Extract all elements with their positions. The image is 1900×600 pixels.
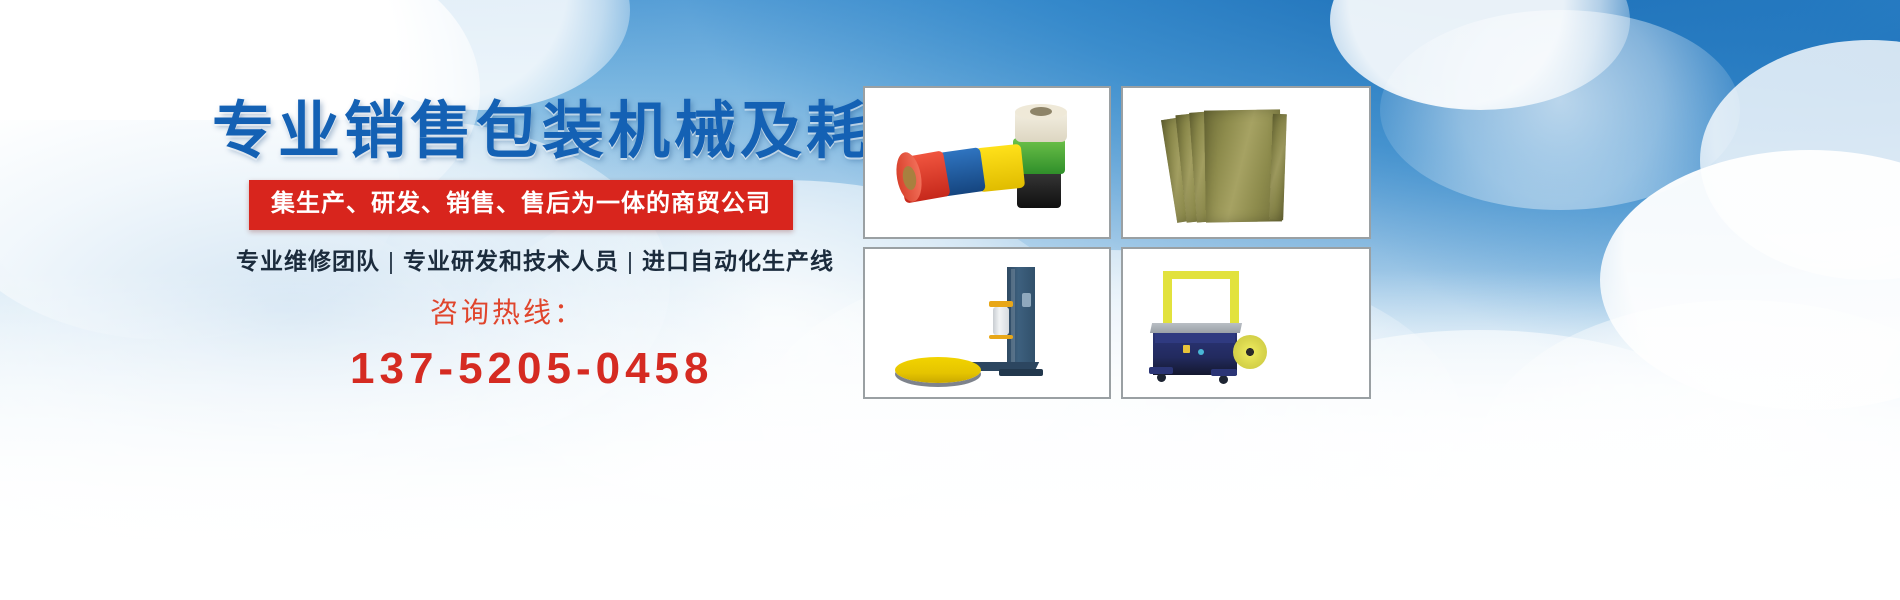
tagline-red-banner: 集生产、研发、销售、售后为一体的商贸公司 (249, 180, 793, 230)
feature-list: 专业维修团队|专业研发和技术人员|进口自动化生产线 (236, 246, 834, 276)
feature-item-2: 专业研发和技术人员 (403, 248, 619, 274)
product-photo-automatic-strapping-machine[interactable]: 全自动打包机 (1121, 247, 1371, 399)
cloud-shape (1700, 40, 1900, 280)
strap-coil (1233, 335, 1267, 369)
product-gallery: 彩色打包带卷 编织袋 (863, 86, 1333, 406)
wrapper-base-plate (999, 369, 1043, 376)
stretch-film-roll (993, 307, 1009, 335)
strap-roll-white-core (1030, 107, 1052, 116)
cloud-shape (1330, 0, 1630, 110)
film-carriage (989, 301, 1013, 307)
product-photo-woven-sacks[interactable]: 编织袋 (1121, 86, 1371, 239)
promo-banner: 专业销售包装机械及耗材 集生产、研发、销售、售后为一体的商贸公司 专业维修团队|… (0, 0, 1900, 600)
wrapper-turntable (895, 357, 981, 383)
film-carriage-lower (989, 335, 1013, 339)
strapping-arch-right (1230, 271, 1239, 327)
feature-separator: | (619, 248, 642, 274)
cloud-shape (1380, 10, 1740, 210)
strapping-table-top (1150, 323, 1242, 333)
machine-foot-right (1211, 369, 1237, 376)
wrapper-mast-highlight (1011, 269, 1015, 369)
hotline-label: 咨询热线： (430, 296, 585, 330)
caster-wheel (1157, 373, 1166, 382)
hotline-phone-number[interactable]: 137-5205-0458 (350, 342, 713, 396)
feature-item-1: 专业维修团队 (236, 248, 380, 274)
feature-separator: | (380, 248, 403, 274)
wrapper-control-panel (1022, 293, 1031, 307)
strapping-arch-left (1163, 271, 1172, 327)
product-photo-packing-strap-rolls[interactable]: 彩色打包带卷 (863, 86, 1111, 239)
banner-copy: 专业销售包装机械及耗材 集生产、研发、销售、售后为一体的商贸公司 专业维修团队|… (0, 0, 900, 600)
woven-sack (1269, 114, 1287, 220)
indicator-light (1198, 349, 1204, 355)
feature-item-3: 进口自动化生产线 (642, 248, 834, 274)
banner-headline: 专业销售包装机械及耗材 (212, 96, 938, 168)
cloud-shape (1480, 300, 1900, 600)
warning-label (1183, 345, 1190, 353)
machine-upper-panel (1155, 333, 1235, 343)
machine-foot-left (1149, 367, 1173, 374)
tagline-text: 集生产、研发、销售、售后为一体的商贸公司 (271, 190, 771, 218)
strapping-arch-top (1163, 271, 1239, 279)
caster-wheel (1219, 375, 1228, 384)
cloud-shape (1600, 150, 1900, 410)
product-photo-pallet-stretch-wrapper[interactable]: 托盘缠绕机 (863, 247, 1111, 399)
